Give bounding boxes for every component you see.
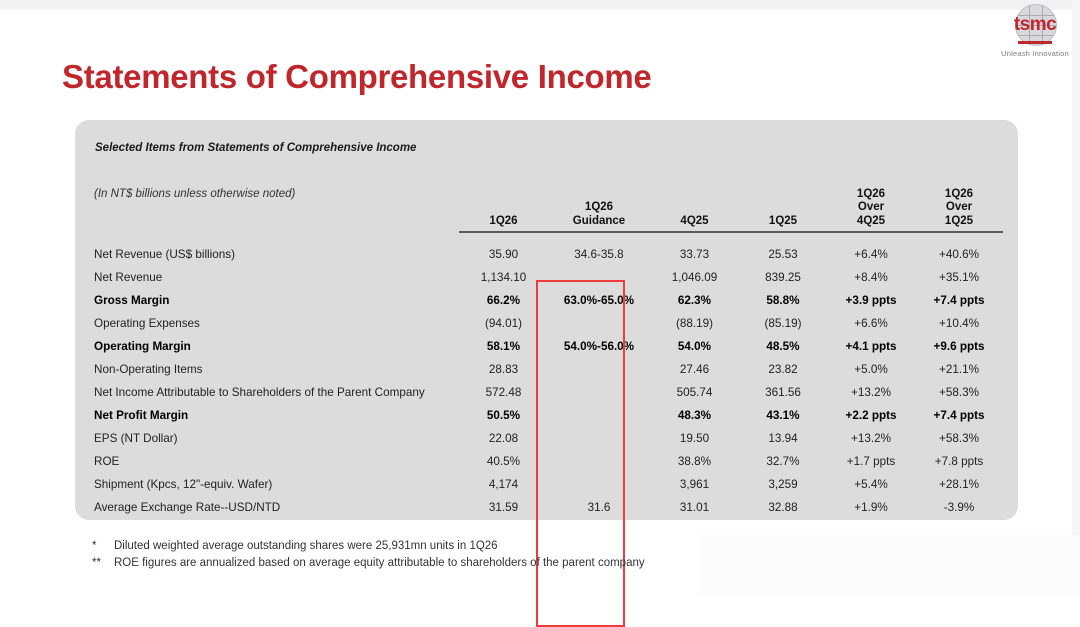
tsmc-logo-mark: tsmc <box>1009 4 1061 48</box>
cell-q4_25: 38.8% <box>650 450 739 473</box>
table-row: ROE40.5%38.8%32.7%+1.7 ppts+7.8 ppts <box>91 450 1003 473</box>
table-row: Gross Margin66.2%63.0%-65.0%62.3%58.8%+3… <box>91 289 1003 312</box>
table-row: Net Revenue1,134.101,046.09839.25+8.4%+3… <box>91 266 1003 289</box>
cell-q1_26_guidance <box>548 312 650 335</box>
cell-q1_26_guidance: 34.6-35.8 <box>548 243 650 266</box>
column-header-4q25: 4Q25 <box>650 148 739 232</box>
footnotes: * Diluted weighted average outstanding s… <box>92 538 992 572</box>
cell-q4_25: 27.46 <box>650 358 739 381</box>
tsmc-logo: tsmc Unleash Innovation <box>992 4 1078 58</box>
column-header-1q26-over-4q25: 1Q26 Over 4Q25 <box>827 148 915 232</box>
cell-q1_25: 361.56 <box>739 381 827 404</box>
cell-q1_26: 28.83 <box>459 358 548 381</box>
cell-q1_26: 50.5% <box>459 404 548 427</box>
row-label: Net Revenue (US$ billions) <box>91 243 459 266</box>
cell-q1_25: (85.19) <box>739 312 827 335</box>
row-label: Gross Margin <box>91 289 459 312</box>
cell-q1_26_guidance <box>548 404 650 427</box>
tsmc-tagline: Unleash Innovation <box>992 49 1078 58</box>
cell-q1_26: 22.08 <box>459 427 548 450</box>
cell-q1_25: 43.1% <box>739 404 827 427</box>
column-header-1q26-guidance: 1Q26 Guidance <box>548 148 650 232</box>
financials-table: 1Q26 1Q26 Guidance 4Q25 1Q25 1Q26 Over 4… <box>91 148 1003 519</box>
cell-over_4q25: +6.6% <box>827 312 915 335</box>
cell-over_1q25: -3.9% <box>915 496 1003 519</box>
cell-over_4q25: +5.4% <box>827 473 915 496</box>
cell-q4_25: 33.73 <box>650 243 739 266</box>
footnote-marker: ** <box>92 555 114 572</box>
table-row: Operating Margin58.1%54.0%-56.0%54.0%48.… <box>91 335 1003 358</box>
cell-q1_26_guidance <box>548 266 650 289</box>
row-label: Shipment (Kpcs, 12"-equiv. Wafer) <box>91 473 459 496</box>
table-header: 1Q26 1Q26 Guidance 4Q25 1Q25 1Q26 Over 4… <box>91 148 1003 232</box>
cell-q1_26_guidance <box>548 450 650 473</box>
footnote-marker: * <box>92 538 114 555</box>
table-row: Net Income Attributable to Shareholders … <box>91 381 1003 404</box>
slide-top-band <box>0 0 1080 10</box>
cell-q4_25: 505.74 <box>650 381 739 404</box>
cell-q1_25: 48.5% <box>739 335 827 358</box>
cell-q1_26_guidance: 63.0%-65.0% <box>548 289 650 312</box>
cell-over_1q25: +21.1% <box>915 358 1003 381</box>
cell-over_4q25: +1.7 ppts <box>827 450 915 473</box>
cell-over_4q25: +2.2 ppts <box>827 404 915 427</box>
cell-over_1q25: +40.6% <box>915 243 1003 266</box>
cell-over_1q25: +7.8 ppts <box>915 450 1003 473</box>
cell-q1_26: 572.48 <box>459 381 548 404</box>
row-label: Operating Expenses <box>91 312 459 335</box>
table-row: Non-Operating Items28.8327.4623.82+5.0%+… <box>91 358 1003 381</box>
cell-over_1q25: +58.3% <box>915 381 1003 404</box>
cell-q4_25: 19.50 <box>650 427 739 450</box>
slide-right-band <box>1072 0 1080 595</box>
table-row: Average Exchange Rate--USD/NTD31.5931.63… <box>91 496 1003 519</box>
table-row: Operating Expenses(94.01)(88.19)(85.19)+… <box>91 312 1003 335</box>
table-row: EPS (NT Dollar)22.0819.5013.94+13.2%+58.… <box>91 427 1003 450</box>
cell-over_4q25: +8.4% <box>827 266 915 289</box>
cell-q1_25: 25.53 <box>739 243 827 266</box>
tsmc-wordmark: tsmc <box>1009 15 1061 34</box>
cell-q4_25: 62.3% <box>650 289 739 312</box>
row-label: Net Profit Margin <box>91 404 459 427</box>
cell-over_4q25: +1.9% <box>827 496 915 519</box>
footnote-item: * Diluted weighted average outstanding s… <box>92 538 992 555</box>
cell-q1_26: 40.5% <box>459 450 548 473</box>
cell-q1_25: 3,259 <box>739 473 827 496</box>
column-header-1q26: 1Q26 <box>459 148 548 232</box>
cell-q4_25: 31.01 <box>650 496 739 519</box>
row-label: Average Exchange Rate--USD/NTD <box>91 496 459 519</box>
cell-q4_25: 1,046.09 <box>650 266 739 289</box>
column-header-label <box>91 148 459 232</box>
cell-q1_26: 66.2% <box>459 289 548 312</box>
cell-q4_25: 54.0% <box>650 335 739 358</box>
table-body: Net Revenue (US$ billions)35.9034.6-35.8… <box>91 232 1003 519</box>
cell-over_4q25: +13.2% <box>827 381 915 404</box>
row-label: ROE <box>91 450 459 473</box>
cell-over_1q25: +7.4 ppts <box>915 404 1003 427</box>
cell-over_1q25: +58.3% <box>915 427 1003 450</box>
row-label: Net Revenue <box>91 266 459 289</box>
cell-q1_26_guidance: 31.6 <box>548 496 650 519</box>
row-label: Operating Margin <box>91 335 459 358</box>
cell-q1_25: 58.8% <box>739 289 827 312</box>
cell-over_1q25: +10.4% <box>915 312 1003 335</box>
cell-q1_26: (94.01) <box>459 312 548 335</box>
cell-q1_26_guidance <box>548 427 650 450</box>
cell-q1_26: 31.59 <box>459 496 548 519</box>
cell-q4_25: (88.19) <box>650 312 739 335</box>
cell-q1_26: 58.1% <box>459 335 548 358</box>
cell-q1_26: 4,174 <box>459 473 548 496</box>
cell-q1_25: 23.82 <box>739 358 827 381</box>
cell-q1_26: 1,134.10 <box>459 266 548 289</box>
cell-q1_26_guidance <box>548 473 650 496</box>
cell-q1_26_guidance <box>548 358 650 381</box>
table-row: Shipment (Kpcs, 12"-equiv. Wafer)4,1743,… <box>91 473 1003 496</box>
cell-q1_26_guidance: 54.0%-56.0% <box>548 335 650 358</box>
row-label: EPS (NT Dollar) <box>91 427 459 450</box>
cell-over_4q25: +5.0% <box>827 358 915 381</box>
cell-q4_25: 48.3% <box>650 404 739 427</box>
cell-q4_25: 3,961 <box>650 473 739 496</box>
cell-q1_26_guidance <box>548 381 650 404</box>
cell-over_4q25: +4.1 ppts <box>827 335 915 358</box>
row-label: Non-Operating Items <box>91 358 459 381</box>
table-spacer-row <box>91 232 1003 243</box>
cell-over_1q25: +28.1% <box>915 473 1003 496</box>
cell-q1_26: 35.90 <box>459 243 548 266</box>
footnote-text: ROE figures are annualized based on aver… <box>114 555 645 572</box>
cell-q1_25: 32.7% <box>739 450 827 473</box>
cell-over_4q25: +3.9 ppts <box>827 289 915 312</box>
financials-panel: Selected Items from Statements of Compre… <box>75 120 1018 520</box>
table-row: Net Profit Margin50.5%48.3%43.1%+2.2 ppt… <box>91 404 1003 427</box>
cell-over_4q25: +6.4% <box>827 243 915 266</box>
footnote-item: ** ROE figures are annualized based on a… <box>92 555 992 572</box>
row-label: Net Income Attributable to Shareholders … <box>91 381 459 404</box>
table-row: Net Revenue (US$ billions)35.9034.6-35.8… <box>91 243 1003 266</box>
column-header-1q26-over-1q25: 1Q26 Over 1Q25 <box>915 148 1003 232</box>
cell-q1_25: 32.88 <box>739 496 827 519</box>
page-title: Statements of Comprehensive Income <box>62 58 651 96</box>
cell-over_1q25: +9.6 ppts <box>915 335 1003 358</box>
cell-over_1q25: +7.4 ppts <box>915 289 1003 312</box>
cell-over_1q25: +35.1% <box>915 266 1003 289</box>
tsmc-logo-underline <box>1018 41 1052 44</box>
column-header-1q25: 1Q25 <box>739 148 827 232</box>
cell-over_4q25: +13.2% <box>827 427 915 450</box>
cell-q1_25: 839.25 <box>739 266 827 289</box>
cell-q1_25: 13.94 <box>739 427 827 450</box>
table-header-row: 1Q26 1Q26 Guidance 4Q25 1Q25 1Q26 Over 4… <box>91 148 1003 232</box>
footnote-text: Diluted weighted average outstanding sha… <box>114 538 498 555</box>
